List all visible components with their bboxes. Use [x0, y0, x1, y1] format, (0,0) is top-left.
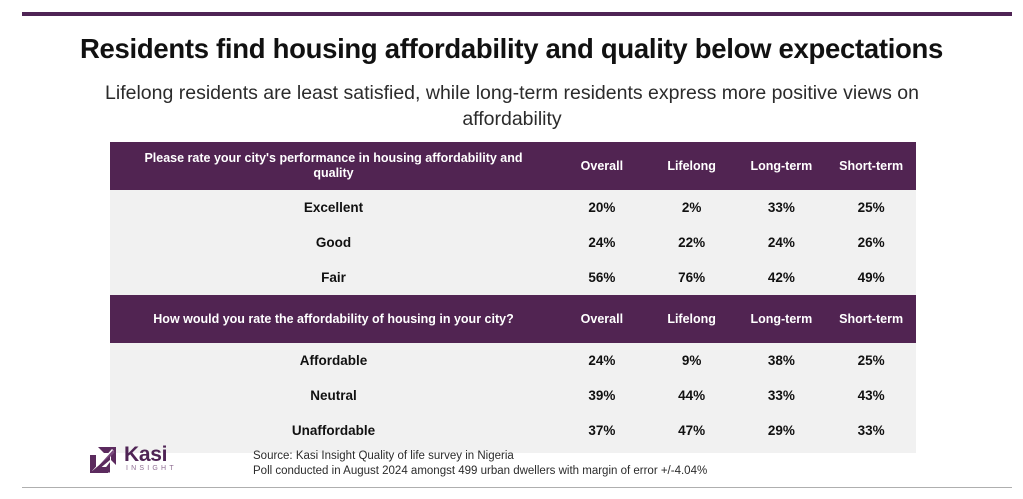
- column-header-short-term: Short-term: [826, 142, 916, 190]
- logo-wordmark: Kasi: [124, 443, 167, 467]
- row-label: Fair: [110, 260, 557, 295]
- cell-value: 43%: [826, 378, 916, 413]
- cell-value: 37%: [557, 413, 647, 448]
- cell-value: 47%: [647, 413, 737, 448]
- cell-value: 44%: [647, 378, 737, 413]
- column-header-long-term: Long-term: [737, 142, 827, 190]
- column-header-overall: Overall: [557, 295, 647, 343]
- column-header-overall: Overall: [557, 142, 647, 190]
- column-header-lifelong: Lifelong: [647, 295, 737, 343]
- kasi-logo: Kasi INSIGHT: [88, 443, 188, 477]
- cell-value: 26%: [826, 225, 916, 260]
- column-header-long-term: Long-term: [737, 295, 827, 343]
- row-label: Good: [110, 225, 557, 260]
- cell-value: 33%: [737, 378, 827, 413]
- cell-value: 22%: [647, 225, 737, 260]
- spacer-cell: [826, 448, 916, 453]
- cell-value: 25%: [826, 343, 916, 378]
- source-line-1: Source: Kasi Insight Quality of life sur…: [253, 449, 707, 464]
- cell-value: 33%: [826, 413, 916, 448]
- column-header-short-term: Short-term: [826, 295, 916, 343]
- question-header: How would you rate the affordability of …: [110, 295, 557, 343]
- table-row: Neutral39%44%33%43%: [110, 378, 916, 413]
- survey-table: Please rate your city's performance in h…: [110, 142, 916, 453]
- arrow-logo-icon: [88, 445, 118, 475]
- cell-value: 25%: [826, 190, 916, 225]
- cell-value: 49%: [826, 260, 916, 295]
- source-note: Source: Kasi Insight Quality of life sur…: [253, 449, 707, 479]
- cell-value: 24%: [557, 343, 647, 378]
- cell-value: 39%: [557, 378, 647, 413]
- table-row: Unaffordable37%47%29%33%: [110, 413, 916, 448]
- cell-value: 29%: [737, 413, 827, 448]
- cell-value: 24%: [557, 225, 647, 260]
- table-row: Good24%22%24%26%: [110, 225, 916, 260]
- spacer-cell: [737, 448, 827, 453]
- table-header-row: How would you rate the affordability of …: [110, 295, 916, 343]
- source-line-2: Poll conducted in August 2024 amongst 49…: [253, 464, 707, 479]
- table-row: Fair56%76%42%49%: [110, 260, 916, 295]
- cell-value: 33%: [737, 190, 827, 225]
- cell-value: 42%: [737, 260, 827, 295]
- page-subtitle: Lifelong residents are least satisfied, …: [86, 80, 938, 132]
- row-label: Affordable: [110, 343, 557, 378]
- row-label: Neutral: [110, 378, 557, 413]
- survey-tables: Please rate your city's performance in h…: [110, 142, 916, 453]
- cell-value: 76%: [647, 260, 737, 295]
- top-accent-rule: [22, 12, 1012, 16]
- question-header: Please rate your city's performance in h…: [110, 142, 557, 190]
- table-row: Affordable24%9%38%25%: [110, 343, 916, 378]
- page-title: Residents find housing affordability and…: [0, 33, 1023, 65]
- row-label: Excellent: [110, 190, 557, 225]
- cell-value: 38%: [737, 343, 827, 378]
- cell-value: 24%: [737, 225, 827, 260]
- bottom-rule: [22, 487, 1012, 488]
- cell-value: 56%: [557, 260, 647, 295]
- column-header-lifelong: Lifelong: [647, 142, 737, 190]
- cell-value: 20%: [557, 190, 647, 225]
- cell-value: 2%: [647, 190, 737, 225]
- table-row: Excellent20%2%33%25%: [110, 190, 916, 225]
- table-header-row: Please rate your city's performance in h…: [110, 142, 916, 190]
- cell-value: 9%: [647, 343, 737, 378]
- logo-tagline: INSIGHT: [126, 465, 177, 472]
